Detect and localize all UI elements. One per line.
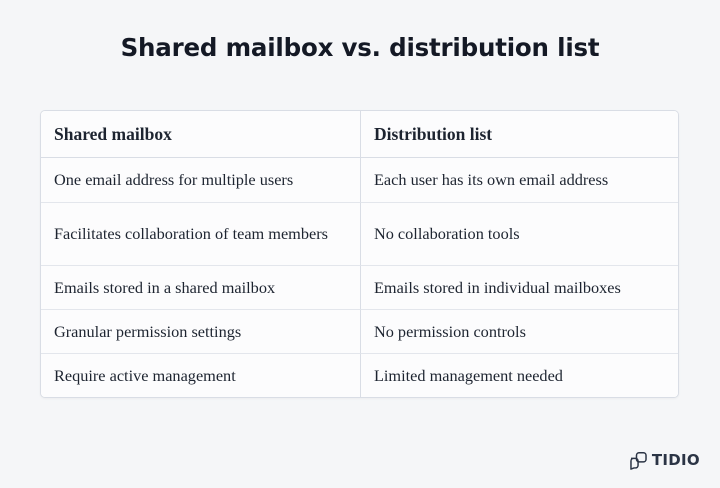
cell-text: Emails stored in a shared mailbox	[54, 276, 348, 299]
cell-text: No permission controls	[374, 320, 666, 343]
brand-logo: TIDIO	[628, 450, 700, 471]
infographic-page: Shared mailbox vs. distribution list Sha…	[0, 0, 720, 488]
table-row: Facilitates collaboration of team member…	[41, 202, 678, 265]
cell-text: Emails stored in individual mailboxes	[374, 276, 666, 299]
cell-text: No collaboration tools	[374, 222, 666, 245]
cell-shared-mailbox: One email address for multiple users	[41, 158, 360, 202]
table-row: Emails stored in a shared mailbox Emails…	[41, 265, 678, 309]
cell-text: Require active management	[54, 364, 348, 387]
table-row: Require active management Limited manage…	[41, 353, 678, 397]
table-head: Shared mailbox Distribution list	[41, 111, 678, 158]
table-row: One email address for multiple users Eac…	[41, 158, 678, 202]
cell-shared-mailbox: Granular permission settings	[41, 309, 360, 353]
table-row: Granular permission settings No permissi…	[41, 309, 678, 353]
brand-name: TIDIO	[652, 453, 700, 468]
tidio-chat-bubbles-icon	[628, 450, 649, 471]
page-title: Shared mailbox vs. distribution list	[0, 33, 720, 62]
cell-shared-mailbox: Emails stored in a shared mailbox	[41, 265, 360, 309]
cell-distribution-list: No permission controls	[360, 309, 678, 353]
cell-distribution-list: Each user has its own email address	[360, 158, 678, 202]
table-body: One email address for multiple users Eac…	[41, 158, 678, 397]
comparison-table: Shared mailbox Distribution list One ema…	[40, 110, 679, 398]
cell-shared-mailbox: Require active management	[41, 353, 360, 397]
cell-distribution-list: Limited management needed	[360, 353, 678, 397]
column-header-shared-mailbox: Shared mailbox	[41, 111, 360, 158]
cell-text: Each user has its own email address	[374, 168, 666, 191]
cell-distribution-list: Emails stored in individual mailboxes	[360, 265, 678, 309]
cell-text: Facilitates collaboration of team member…	[54, 222, 348, 245]
cell-distribution-list: No collaboration tools	[360, 202, 678, 265]
cell-text: Granular permission settings	[54, 320, 348, 343]
table-header-row: Shared mailbox Distribution list	[41, 111, 678, 158]
cell-text: Limited management needed	[374, 364, 666, 387]
column-header-distribution-list: Distribution list	[360, 111, 678, 158]
cell-shared-mailbox: Facilitates collaboration of team member…	[41, 202, 360, 265]
cell-text: One email address for multiple users	[54, 168, 348, 191]
